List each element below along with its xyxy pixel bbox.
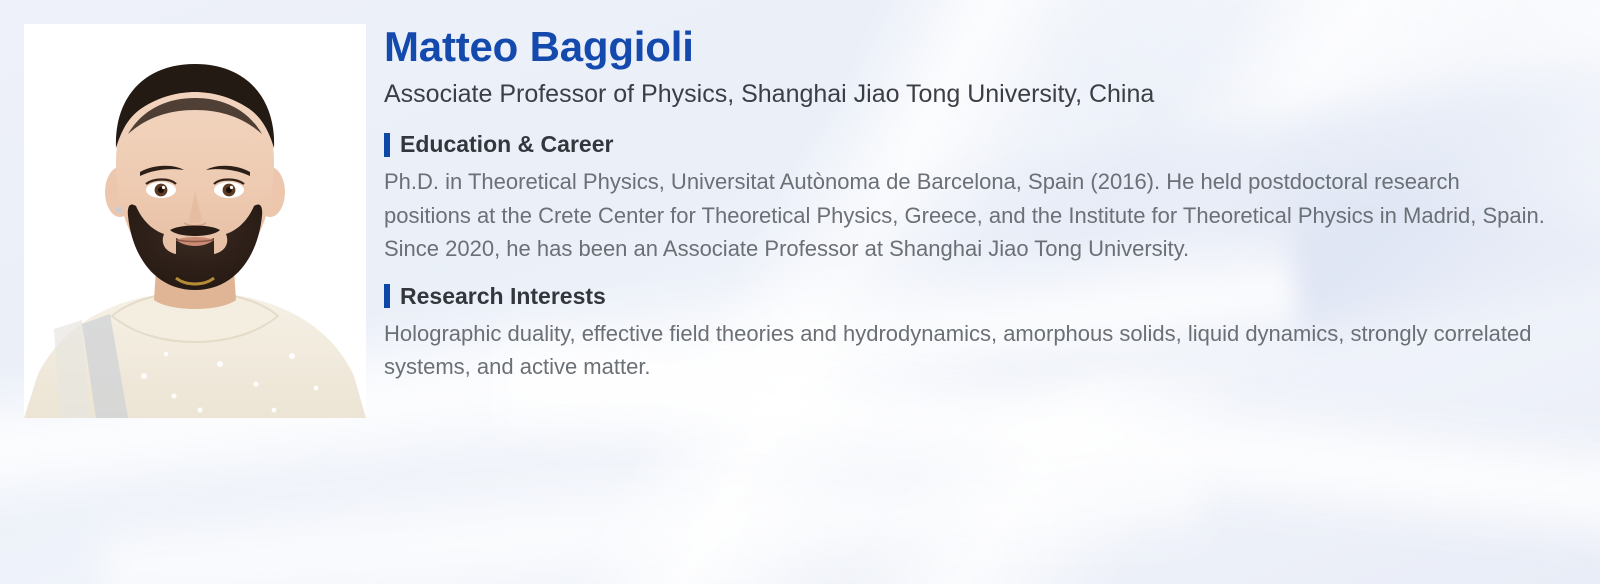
accent-bar-icon — [384, 284, 390, 308]
background-band-decor — [97, 432, 1203, 584]
section-body-education: Ph.D. in Theoretical Physics, Universita… — [384, 165, 1549, 265]
section-title-research: Research Interests — [400, 284, 606, 309]
section-title-education: Education & Career — [400, 132, 613, 157]
speaker-profile-slide: Matteo Baggioli Associate Professor of P… — [0, 0, 1600, 584]
speaker-affiliation: Associate Professor of Physics, Shanghai… — [384, 78, 1564, 111]
speaker-photo-card — [24, 24, 366, 418]
section-header-education: Education & Career — [384, 132, 1564, 157]
section-header-research: Research Interests — [384, 284, 1564, 309]
section-body-research: Holographic duality, effective field the… — [384, 317, 1549, 384]
speaker-name: Matteo Baggioli — [384, 22, 1564, 72]
speaker-portrait-image — [24, 24, 366, 418]
speaker-info-block: Matteo Baggioli Associate Professor of P… — [384, 22, 1564, 384]
accent-bar-icon — [384, 133, 390, 157]
